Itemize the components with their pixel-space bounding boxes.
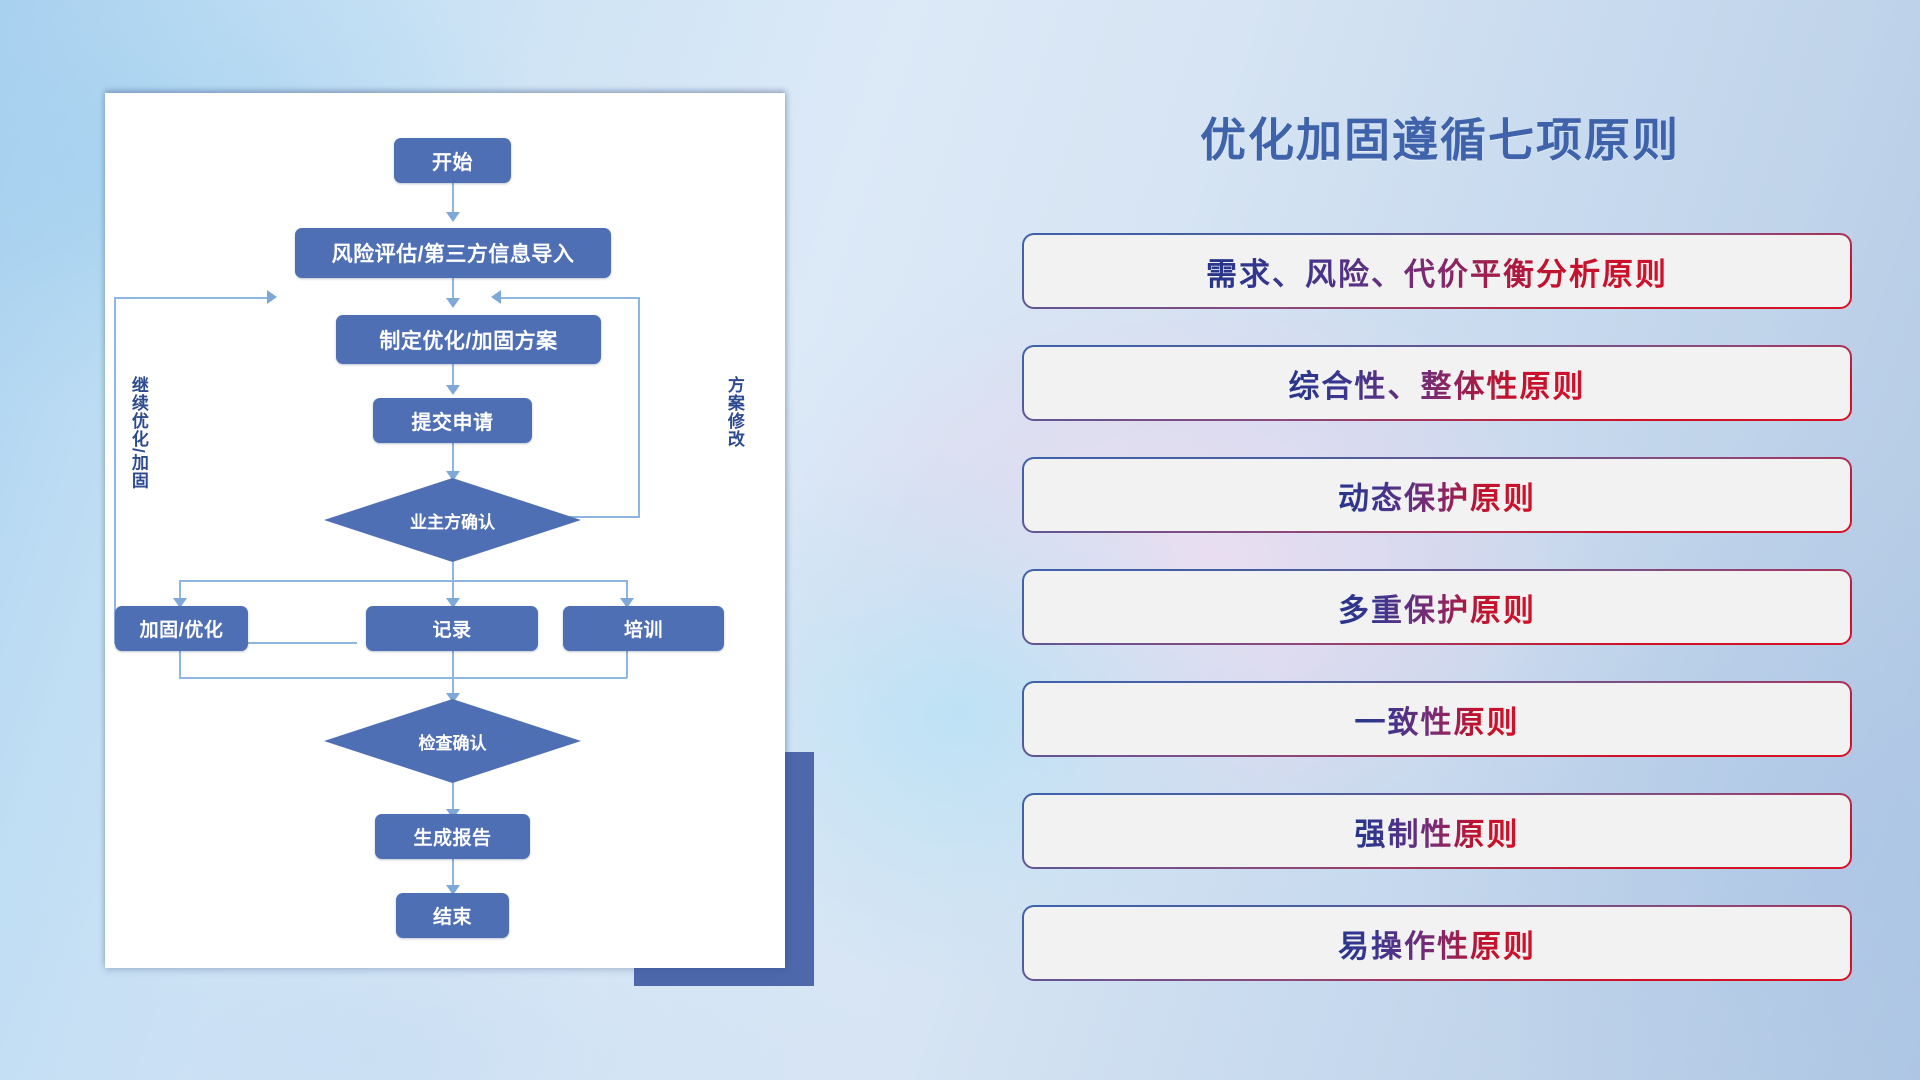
principle-card-7-label: 易操作性原则	[1338, 921, 1536, 966]
flow-node-plan: 制定优化/加固方案	[336, 315, 601, 364]
flow-node-generate-report: 生成报告	[375, 814, 530, 859]
principle-card-3[interactable]: 动态保护原则	[1022, 457, 1852, 533]
flow-node-generate-report-label: 生成报告	[413, 823, 491, 850]
arrowhead-plan-to-submit	[446, 385, 460, 395]
principle-card-2-inner: 综合性、整体性原则	[1024, 347, 1850, 419]
principle-card-4[interactable]: 多重保护原则	[1022, 569, 1852, 645]
flow-node-owner-confirm: 业主方确认	[324, 478, 581, 562]
flow-node-training-label: 培训	[624, 615, 663, 642]
edge-label-continue-optimize: 继续优化/加固	[129, 376, 147, 546]
principle-card-2-label: 综合性、整体性原则	[1289, 361, 1586, 406]
connector-fanout-bus	[179, 580, 627, 582]
flow-node-submit-label: 提交申请	[412, 406, 494, 435]
principle-card-7[interactable]: 易操作性原则	[1022, 905, 1852, 981]
flow-node-submit: 提交申请	[373, 398, 532, 443]
flow-node-start-label: 开始	[432, 146, 473, 175]
principle-card-3-label: 动态保护原则	[1338, 473, 1536, 518]
panel-title: 优化加固遵循七项原则	[960, 104, 1920, 170]
principle-card-2[interactable]: 综合性、整体性原则	[1022, 345, 1852, 421]
principles-panel: 优化加固遵循七项原则 需求、风险、代价平衡分析原则 综合性、整体性原则 动态保护…	[960, 0, 1920, 1080]
flow-node-risk-assessment-label: 风险评估/第三方信息导入	[332, 238, 575, 268]
flowchart-card: 开始 风险评估/第三方信息导入 制定优化/加固方案 提交申请 业主方确认 加固/…	[105, 93, 785, 968]
flowchart-canvas: 开始 风险评估/第三方信息导入 制定优化/加固方案 提交申请 业主方确认 加固/…	[105, 93, 785, 968]
principle-card-4-inner: 多重保护原则	[1024, 571, 1850, 643]
principle-card-3-inner: 动态保护原则	[1024, 459, 1850, 531]
flow-node-owner-confirm-label: 业主方确认	[410, 508, 495, 533]
flow-node-reinforce: 加固/优化	[115, 606, 248, 651]
principle-card-6[interactable]: 强制性原则	[1022, 793, 1852, 869]
edge-label-plan-revision: 方案修改	[725, 376, 743, 506]
flow-node-risk-assessment: 风险评估/第三方信息导入	[295, 228, 611, 278]
arrowhead-start-to-risk	[446, 212, 460, 222]
connector-right-loop-into-plan	[501, 297, 639, 299]
principle-card-5-label: 一致性原则	[1355, 697, 1520, 742]
connector-left-loop-into-plan	[114, 297, 268, 299]
arrowhead-left-loop-to-plan	[267, 290, 277, 304]
principle-card-7-inner: 易操作性原则	[1024, 907, 1850, 979]
principle-card-5[interactable]: 一致性原则	[1022, 681, 1852, 757]
principle-card-6-inner: 强制性原则	[1024, 795, 1850, 867]
principle-card-1-inner: 需求、风险、代价平衡分析原则	[1024, 235, 1850, 307]
flow-node-reinforce-label: 加固/优化	[140, 615, 224, 642]
principle-card-5-inner: 一致性原则	[1024, 683, 1850, 755]
flow-node-inspection-confirm-label: 检查确认	[419, 729, 487, 754]
arrowhead-risk-to-plan	[446, 298, 460, 308]
connector-right-loop-vertical	[638, 297, 640, 518]
flowchart-panel: 开始 风险评估/第三方信息导入 制定优化/加固方案 提交申请 业主方确认 加固/…	[0, 0, 960, 1080]
flow-node-record-label: 记录	[432, 615, 471, 642]
connector-merge-bus	[179, 677, 627, 679]
flow-node-end-label: 结束	[433, 902, 472, 929]
flow-node-inspection-confirm: 检查确认	[324, 699, 581, 783]
principles-list: 需求、风险、代价平衡分析原则 综合性、整体性原则 动态保护原则 多重保护原则 一…	[1022, 233, 1852, 1017]
flow-node-plan-label: 制定优化/加固方案	[379, 325, 557, 355]
connector-left-loop-vertical	[114, 297, 116, 644]
flow-node-record: 记录	[366, 606, 538, 651]
principle-card-6-label: 强制性原则	[1355, 809, 1520, 854]
flow-node-end: 结束	[396, 893, 509, 938]
flow-node-training: 培训	[563, 606, 724, 651]
arrowhead-right-loop-to-plan	[491, 290, 501, 304]
principle-card-1-label: 需求、风险、代价平衡分析原则	[1206, 249, 1668, 294]
principle-card-4-label: 多重保护原则	[1338, 585, 1536, 630]
flow-node-start: 开始	[394, 138, 511, 183]
principle-card-1[interactable]: 需求、风险、代价平衡分析原则	[1022, 233, 1852, 309]
